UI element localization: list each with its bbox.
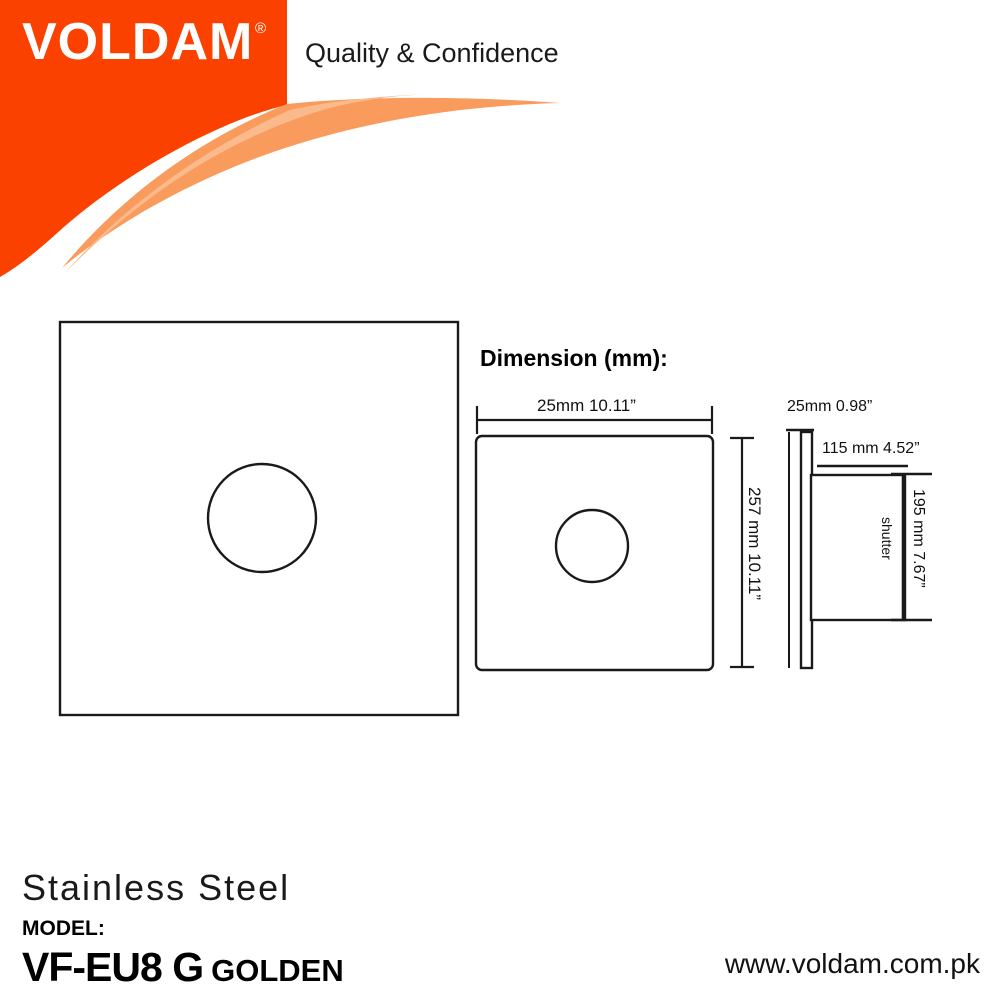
model-line: VF-EU8 GGOLDEN	[22, 944, 344, 991]
model-label: MODEL:	[22, 917, 105, 941]
side-thickness-dimension-label: 25mm 0.98”	[787, 398, 872, 416]
model-finish: GOLDEN	[211, 953, 344, 988]
middle-view-group	[476, 406, 754, 670]
shutter-part-label: shutter	[879, 517, 895, 560]
front-view-vent-hole-icon	[208, 464, 316, 572]
footer: Stainless Steel MODEL: VF-EU8 GGOLDEN ww…	[0, 855, 1000, 1000]
material-name: Stainless Steel	[22, 867, 290, 909]
middle-width-dimension-label: 25mm 10.11”	[537, 396, 636, 416]
side-depth-dimension-label: 115 mm 4.52”	[822, 440, 920, 458]
drawing-svg	[0, 0, 1000, 1000]
middle-height-dimension-label: 257 mm 10.11”	[744, 487, 764, 600]
technical-drawing: Dimension (mm):	[0, 0, 1000, 1000]
shutter-height-dimension-label: 195 mm 7.67”	[909, 489, 927, 588]
front-view-group	[60, 322, 458, 715]
website-url[interactable]: www.voldam.com.pk	[725, 948, 980, 980]
middle-view-vent-hole-icon	[556, 510, 628, 582]
model-code: VF-EU8 G	[22, 944, 203, 990]
